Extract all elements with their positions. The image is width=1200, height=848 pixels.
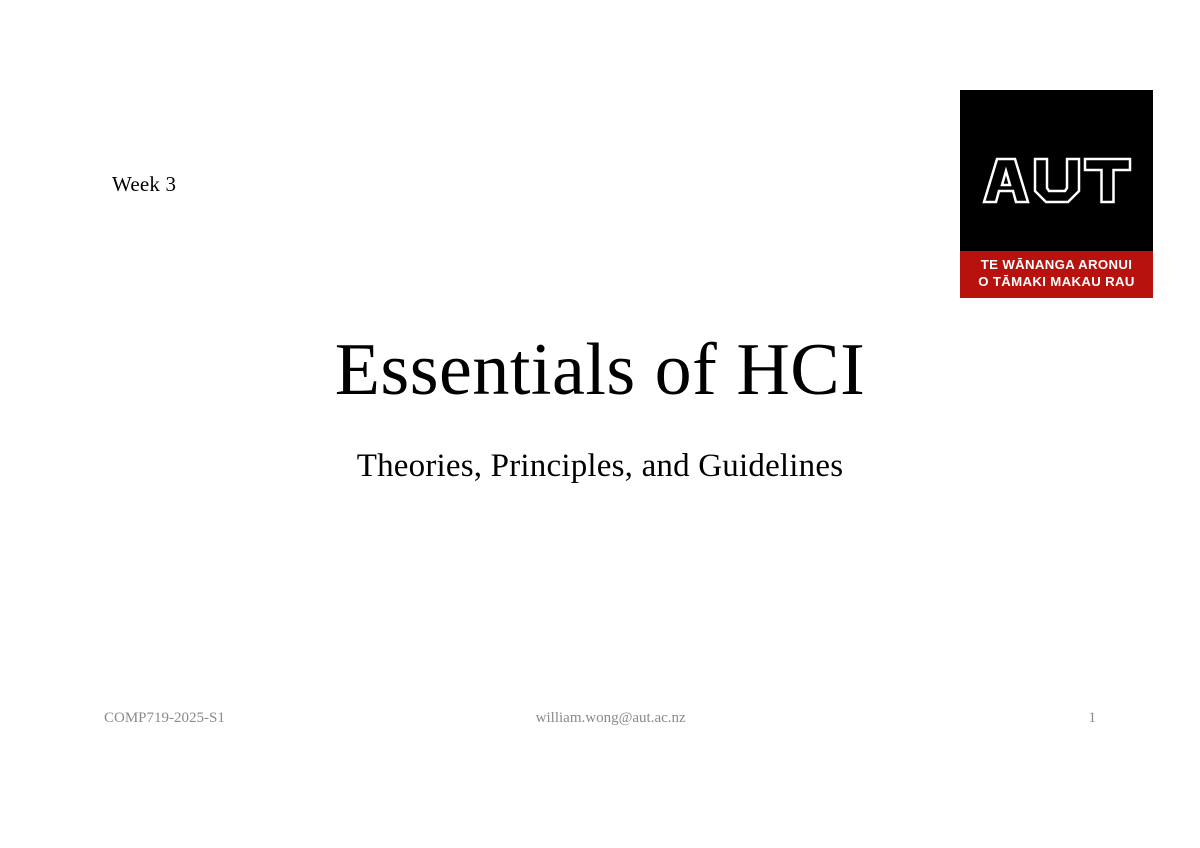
aut-maori-line-1: TE WĀNANGA ARONUI bbox=[981, 257, 1133, 274]
footer-course-code: COMP719-2025-S1 bbox=[104, 710, 225, 727]
presentation-slide: Week 3 TE WĀNANGA ARONUI O TĀMAKI MAKAU … bbox=[0, 0, 1200, 848]
aut-maori-line-2: O TĀMAKI MAKAU RAU bbox=[978, 274, 1134, 291]
footer-page-number: 1 bbox=[1089, 710, 1097, 727]
week-label: Week 3 bbox=[112, 172, 176, 197]
aut-wordmark bbox=[960, 90, 1153, 251]
page-title: Essentials of HCI bbox=[0, 332, 1200, 410]
title-block: Essentials of HCI Theories, Principles, … bbox=[0, 332, 1200, 484]
slide-footer: COMP719-2025-S1 william.wong@aut.ac.nz 1 bbox=[104, 710, 1096, 727]
aut-logo: TE WĀNANGA ARONUI O TĀMAKI MAKAU RAU bbox=[960, 90, 1153, 298]
page-subtitle: Theories, Principles, and Guidelines bbox=[0, 448, 1200, 484]
aut-logo-maori-band: TE WĀNANGA ARONUI O TĀMAKI MAKAU RAU bbox=[960, 251, 1153, 298]
footer-contact-email: william.wong@aut.ac.nz bbox=[225, 710, 1089, 727]
